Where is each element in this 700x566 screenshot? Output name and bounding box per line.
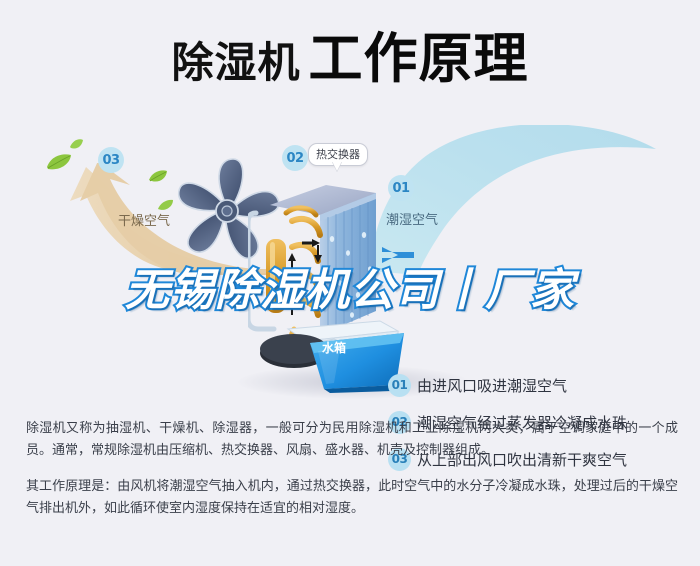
label-dry-air: 干燥空气 <box>118 210 170 229</box>
leaf-icon <box>70 139 84 150</box>
page-title: 除湿机工作原理 <box>0 32 700 86</box>
leaf-icon <box>148 169 168 184</box>
heat-exchanger-callout-tail <box>332 161 342 171</box>
page-root: 除湿机工作原理 <box>0 0 700 566</box>
page-title-part-small: 除湿机 <box>171 38 300 87</box>
illustration-mark-03: 03 <box>98 147 124 173</box>
legend-badge-01: 01 <box>388 374 411 397</box>
watermark-text: 无锡除湿机公司丨厂家 <box>0 268 700 314</box>
illustration-mark-01: 01 <box>388 175 414 201</box>
page-title-part-large: 工作原理 <box>309 27 529 90</box>
paragraph-spacer <box>26 462 678 476</box>
label-humid-air: 潮湿空气 <box>386 209 438 228</box>
body-paragraph-2: 其工作原理是：由风机将潮湿空气抽入机内，通过热交换器，此时空气中的水分子冷凝成水… <box>26 476 678 520</box>
legend-text-01: 由进风口吸进潮湿空气 <box>417 375 567 396</box>
heat-exchanger-callout-label: 热交换器 <box>316 148 360 161</box>
body-copy: 除湿机又称为抽湿机、干燥机、除湿器，一般可分为民用除湿机和工业除湿机两大类，属于… <box>26 418 678 520</box>
label-water-tank: 水箱 <box>322 339 346 356</box>
leaf-icon <box>46 153 72 171</box>
illustration-mark-02: 02 <box>282 145 308 171</box>
legend-item: 01 由进风口吸进潮湿空气 <box>388 373 688 397</box>
body-paragraph-1: 除湿机又称为抽湿机、干燥机、除湿器，一般可分为民用除湿机和工业除湿机两大类，属于… <box>26 418 678 462</box>
